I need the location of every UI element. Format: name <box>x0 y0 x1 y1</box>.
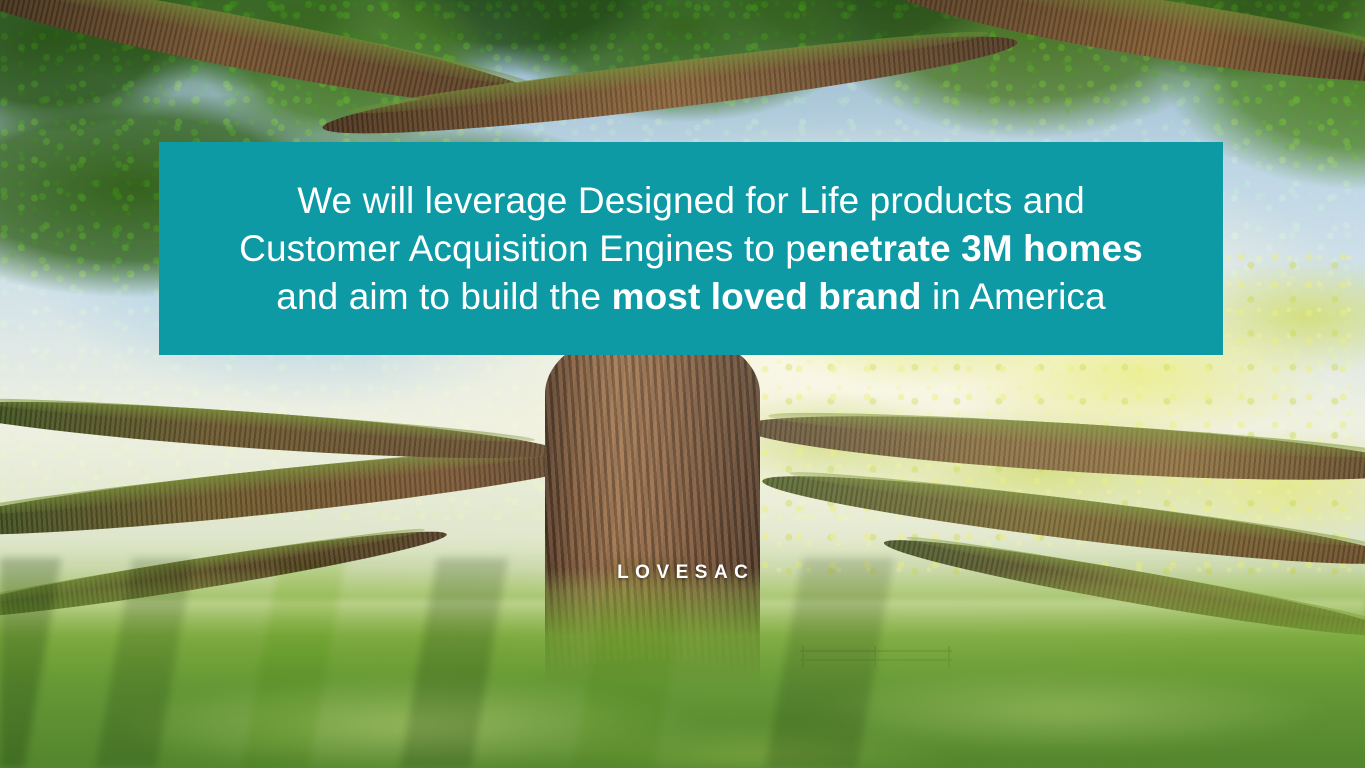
statement-text: We will leverage Designed for Life produ… <box>159 177 1223 321</box>
statement-line-3-regular-b: in America <box>922 276 1106 317</box>
statement-line-1-text: We will leverage Designed for Life produ… <box>297 180 1085 221</box>
statement-line-3: and aim to build the most loved brand in… <box>181 273 1201 321</box>
statement-line-2: Customer Acquisition Engines to penetrat… <box>181 225 1201 273</box>
statement-line-3-bold: most loved brand <box>612 276 922 317</box>
statement-line-1: We will leverage Designed for Life produ… <box>181 177 1201 225</box>
statement-line-3-regular-a: and aim to build the <box>276 276 611 317</box>
statement-line-2-bold: enetrate 3M homes <box>806 228 1143 269</box>
statement-line-2-regular: Customer Acquisition Engines to p <box>239 228 806 269</box>
presentation-slide: We will leverage Designed for Life produ… <box>0 0 1365 768</box>
background-photo-oak-tree <box>0 0 1365 768</box>
statement-card: We will leverage Designed for Life produ… <box>159 142 1223 355</box>
grass-shadow-streaks <box>0 558 1365 768</box>
